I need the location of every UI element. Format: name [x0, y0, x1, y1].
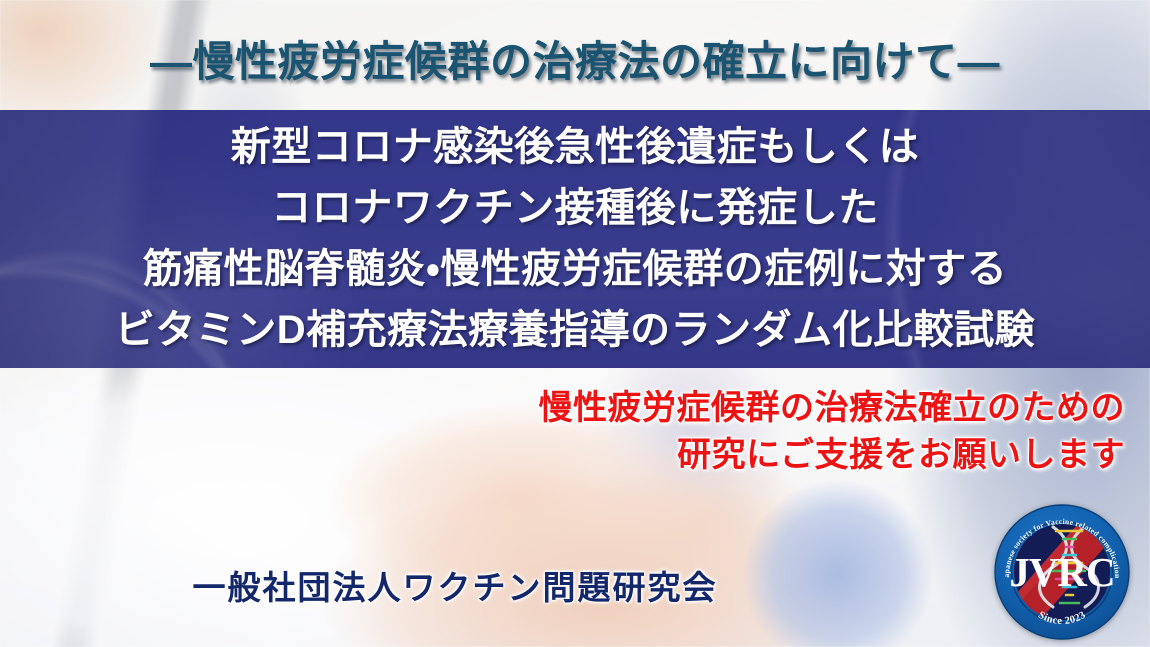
- appeal-line-1: 慢性疲労症候群の治療法確立のための: [365, 385, 1125, 432]
- jvrc-logo: JVRC Japanese society for Vaccine relate…: [993, 503, 1131, 641]
- banner-line-3: 筋痛性脳脊髄炎・慢性疲労症候群の症例に対する: [143, 241, 1008, 298]
- header-band: ―慢性疲労症候群の治療法の確立に向けて―: [0, 0, 1150, 110]
- banner-line-2: コロナワクチン接種後に発症した: [271, 180, 879, 237]
- appeal-line-2: 研究にご支援をお願いします: [365, 432, 1125, 479]
- support-appeal-text: 慢性疲労症候群の治療法確立のための 研究にご支援をお願いします: [365, 385, 1125, 479]
- organization-name: 一般社団法人ワクチン問題研究会: [0, 561, 1150, 609]
- banner-line-4: ビタミンD補充療法療養指導のランダム化比較試験: [115, 302, 1035, 359]
- study-title-banner: 新型コロナ感染後急性後遺症もしくは コロナワクチン接種後に発症した 筋痛性脳脊髄…: [0, 110, 1150, 368]
- poster-canvas: ―慢性疲労症候群の治療法の確立に向けて― 新型コロナ感染後急性後遺症もしくは コ…: [0, 0, 1150, 647]
- page-title: ―慢性疲労症候群の治療法の確立に向けて―: [0, 28, 1150, 89]
- logo-wordmark: JVRC: [1009, 549, 1114, 595]
- banner-line-1: 新型コロナ感染後急性後遺症もしくは: [231, 119, 920, 176]
- banner-text-block: 新型コロナ感染後急性後遺症もしくは コロナワクチン接種後に発症した 筋痛性脳脊髄…: [0, 110, 1150, 368]
